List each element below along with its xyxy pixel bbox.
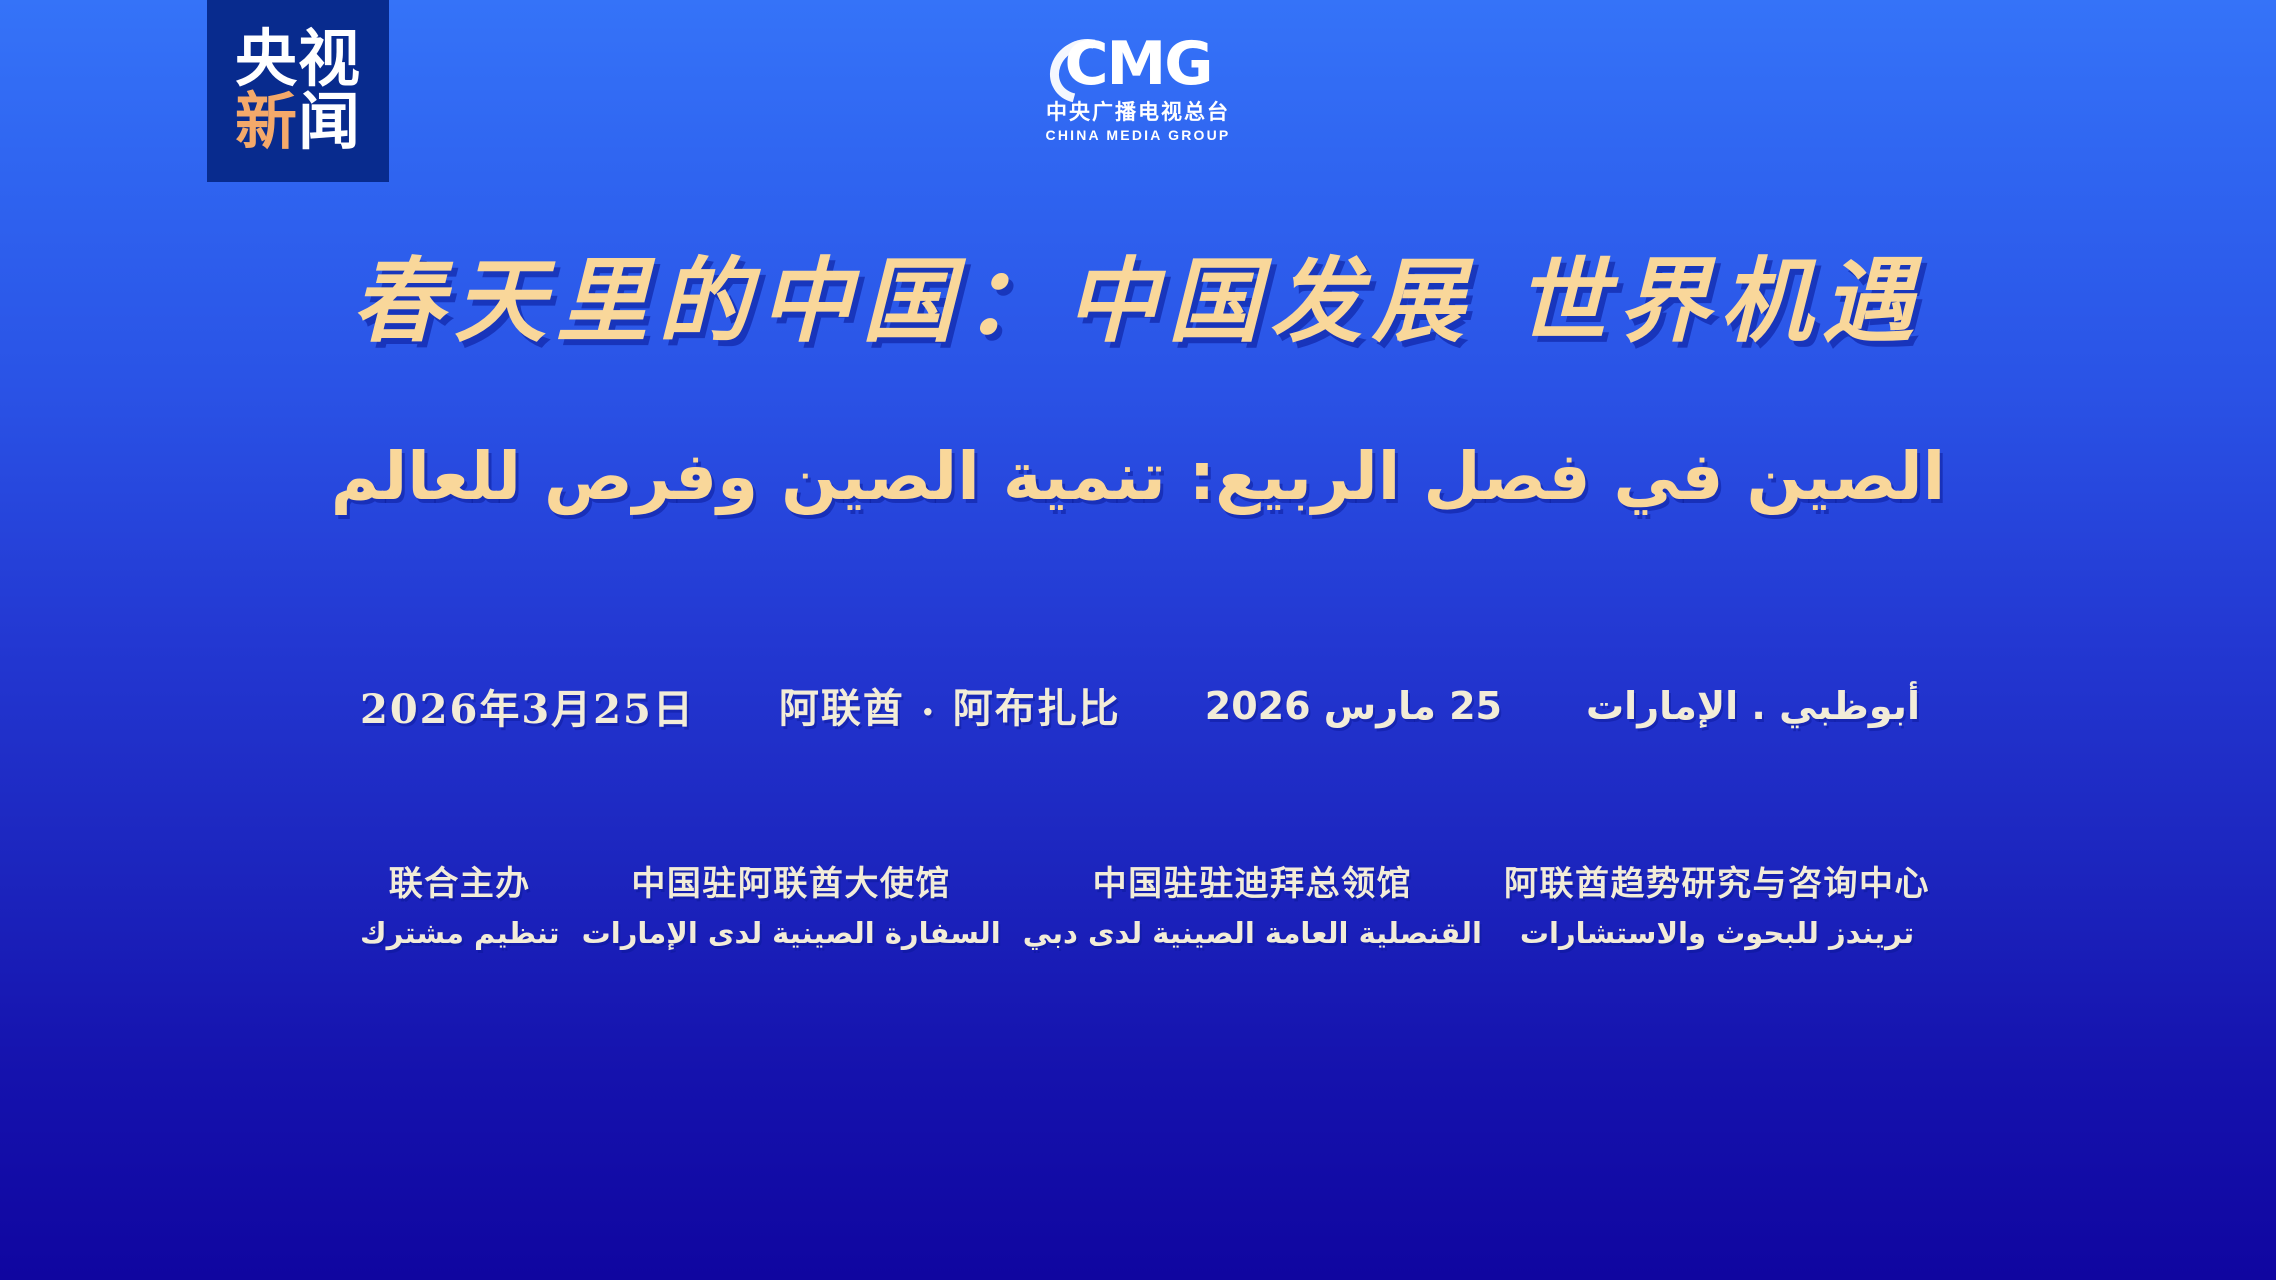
location-separator-dot: · [921,689,937,736]
organizer-item: 阿联酋趋势研究与咨询中心 تريندز للبحوث والاستشارات [1504,862,1930,953]
organizer-name-arabic: القنصلية العامة الصينية لدى دبي [1023,914,1482,953]
event-location-city-chinese: 阿布扎比 [953,685,1121,732]
event-date-arabic: 25 مارس 2026 [1205,684,1502,728]
cctv-logo-char-yang: 央 [235,27,298,90]
cmg-logo: CMG 中央广播电视总台 CHINA MEDIA GROUP [928,34,1348,143]
event-location-arabic: أبوظبي . الإمارات [1586,684,1920,728]
page-title-arabic: الصين في فصل الربيع: تنمية الصين وفرص لل… [0,432,2276,521]
organizer-name-chinese: 中国驻阿联酋大使馆 [582,862,1001,908]
page-title-chinese: 春天里的中国：中国发展 世界机遇 [0,244,2276,359]
organizer-name-arabic: تريندز للبحوث والاستشارات [1504,914,1930,953]
event-meta-row: 2026年3月25日 阿联酋·阿布扎比 25 مارس 2026 أبوظبي … [360,676,1920,736]
event-location-country-chinese: 阿联酋 [779,685,905,732]
organizer-item: 中国驻驻迪拜总领馆 القنصلية العامة الصينية لدى دب… [1023,862,1482,953]
organizer-name-chinese: 阿联酋趋势研究与咨询中心 [1504,862,1930,908]
event-date-chinese: 2026年3月25日 [360,677,695,735]
cctv-logo-char-shi: 视 [298,27,361,90]
organizer-name-chinese: 联合主办 [360,862,560,908]
cmg-wordmark: CMG [1065,34,1212,94]
event-location-chinese: 阿联酋·阿布扎比 [779,676,1121,736]
organizers-row: 联合主办 تنظيم مشترك 中国驻阿联酋大使馆 السفارة الصين… [360,862,1930,953]
event-poster: 央 视 新 闻 CMG 中央广播电视总台 CHINA MEDIA GROUP 春… [0,0,2276,1280]
organizer-item: 中国驻阿联酋大使馆 السفارة الصينية لدى الإمارات [582,862,1001,953]
organizer-name-arabic: السفارة الصينية لدى الإمارات [582,914,1001,953]
cctv-logo-line-2: 新 闻 [235,90,361,153]
cmg-chinese-name: 中央广播电视总台 [928,100,1348,125]
cctv-logo-char-wen: 闻 [298,90,361,153]
organizer-item: 联合主办 تنظيم مشترك [360,862,560,953]
cctv-logo-line-1: 央 视 [235,27,361,90]
cctv-news-logo: 央 视 新 闻 [207,0,389,182]
cmg-english-name: CHINA MEDIA GROUP [928,127,1348,143]
cctv-logo-char-xin: 新 [235,90,298,153]
organizer-name-chinese: 中国驻驻迪拜总领馆 [1023,862,1482,908]
organizer-name-arabic: تنظيم مشترك [360,914,560,953]
